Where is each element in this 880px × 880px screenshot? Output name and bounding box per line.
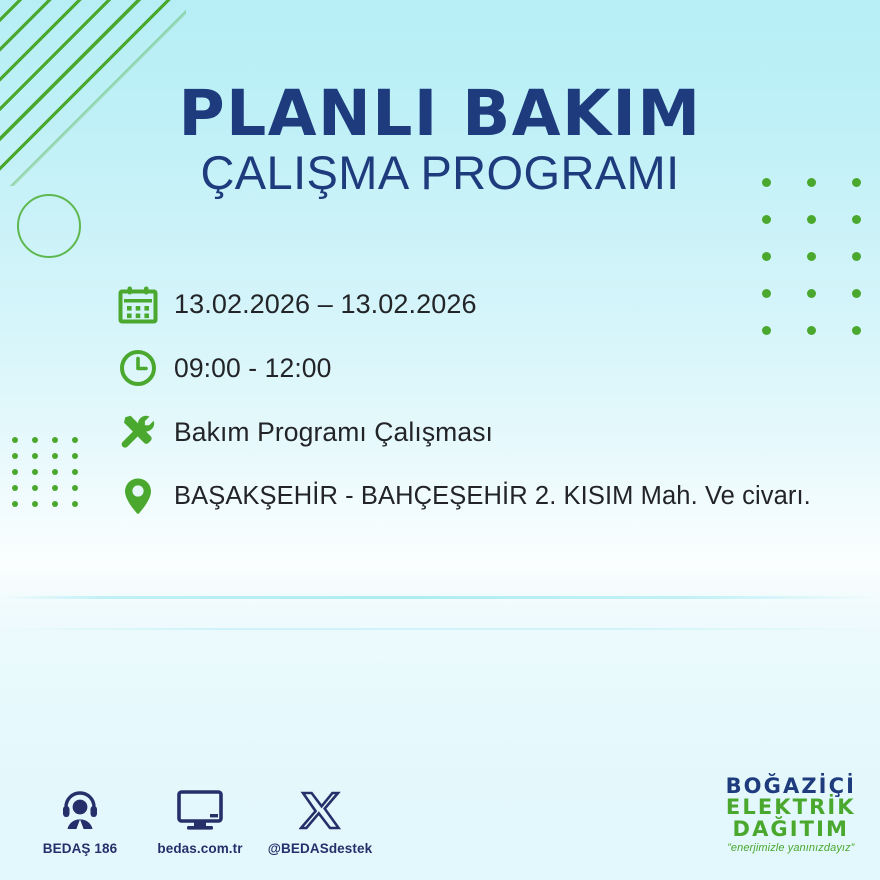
contact-phone-label: BEDAŞ 186 <box>43 841 117 856</box>
bedas-logo: BOĞAZİÇİ ELEKTRİK DAĞITIM ”enerjimizle y… <box>726 776 856 854</box>
title-subtitle: ÇALIŞMA PROGRAMI <box>0 148 880 199</box>
contact-x-label: @BEDASdestek <box>268 841 372 856</box>
title-main: PLANLI BAKIM <box>0 82 880 146</box>
divider-band <box>0 596 880 599</box>
divider-band-secondary <box>0 628 880 630</box>
planned-maintenance-poster: PLANLI BAKIM ÇALIŞMA PROGRAMI <box>0 0 880 880</box>
time-range-text: 09:00 - 12:00 <box>174 353 331 384</box>
brand-line-3: DAĞITIM <box>726 819 856 840</box>
page-title: PLANLI BAKIM ÇALIŞMA PROGRAMI <box>0 82 880 199</box>
contact-website-label: bedas.com.tr <box>157 841 242 856</box>
work-type-text: Bakım Programı Çalışması <box>174 417 493 448</box>
circle-outline-decoration <box>17 194 81 258</box>
info-row-work-type: Bakım Programı Çalışması <box>118 400 878 464</box>
date-range-text: 13.02.2026 – 13.02.2026 <box>174 289 477 320</box>
x-twitter-icon <box>299 786 341 832</box>
info-row-date: 13.02.2026 – 13.02.2026 <box>118 272 878 336</box>
tools-icon <box>118 404 174 460</box>
contact-website[interactable]: bedas.com.tr <box>154 786 246 856</box>
info-row-location: BAŞAKŞEHİR - BAHÇEŞEHİR 2. KISIM Mah. Ve… <box>118 464 878 528</box>
location-pin-icon <box>118 468 174 524</box>
clock-icon <box>118 340 174 396</box>
desktop-monitor-icon <box>176 786 224 832</box>
contact-x-social[interactable]: @BEDASdestek <box>274 786 366 856</box>
maintenance-info-list: 13.02.2026 – 13.02.2026 09:00 - 12:00 <box>118 272 878 528</box>
info-row-time: 09:00 - 12:00 <box>118 336 878 400</box>
headset-support-icon <box>58 786 102 832</box>
calendar-icon <box>118 276 174 332</box>
contact-phone[interactable]: BEDAŞ 186 <box>34 786 126 856</box>
location-text: BAŞAKŞEHİR - BAHÇEŞEHİR 2. KISIM Mah. Ve… <box>174 482 811 511</box>
dot-grid-left-decoration <box>12 437 92 517</box>
footer-contacts: BEDAŞ 186 bedas.com.tr @BEDASdestek <box>34 786 366 856</box>
brand-tagline: ”enerjimizle yanınızdayız” <box>726 843 856 854</box>
brand-line-2: ELEKTRİK <box>726 797 856 818</box>
